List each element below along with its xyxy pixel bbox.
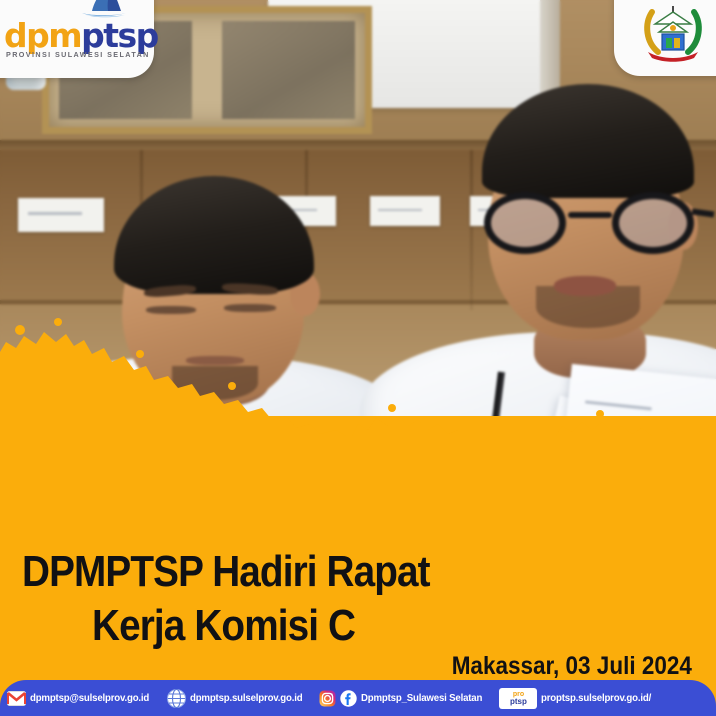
headline-line-1: DPMPTSP Hadiri Rapat bbox=[22, 548, 430, 596]
gmail-envelope-icon bbox=[7, 691, 26, 706]
date-location-label: Makassar, 03 Juli 2024 bbox=[452, 652, 692, 681]
footer-website-label: dpmptsp.sulselprov.go.id bbox=[190, 692, 302, 704]
contact-footer-bar: dpmptsp@sulselprov.go.id dpmptsp.sulselp… bbox=[0, 680, 716, 716]
instagram-icon bbox=[319, 690, 336, 707]
logo-dpmptsp: dpmptsp PROVINSI SULAWESI SELATAN bbox=[0, 0, 154, 78]
footer-social[interactable]: Dpmptsp_Sulawesi Selatan bbox=[319, 690, 493, 707]
proptsp-badge-icon: pro ptsp bbox=[499, 688, 537, 709]
footer-email[interactable]: dpmptsp@sulselprov.go.id bbox=[7, 691, 160, 706]
headline-line-2: Kerja Komisi C bbox=[92, 602, 355, 650]
footer-proptsp[interactable]: pro ptsp proptsp.sulselprov.go.id/ bbox=[499, 688, 661, 709]
logo-province-emblem bbox=[614, 0, 716, 76]
proptsp-badge-bottom: ptsp bbox=[510, 698, 527, 706]
footer-website[interactable]: dpmptsp.sulselprov.go.id bbox=[167, 689, 312, 708]
footer-proptsp-label: proptsp.sulselprov.go.id/ bbox=[541, 692, 651, 704]
south-sulawesi-coat-of-arms-icon bbox=[640, 2, 706, 64]
footer-email-label: dpmptsp@sulselprov.go.id bbox=[30, 692, 149, 704]
footer-social-label: Dpmptsp_Sulawesi Selatan bbox=[361, 692, 482, 704]
logo-tagline: PROVINSI SULAWESI SELATAN bbox=[6, 50, 150, 59]
facebook-icon bbox=[340, 690, 357, 707]
globe-icon bbox=[167, 689, 186, 708]
orange-torn-edge bbox=[0, 296, 716, 436]
social-media-poster: 13 DPMPTSP Hadiri Rapat Kerja Komisi C M… bbox=[0, 0, 716, 716]
